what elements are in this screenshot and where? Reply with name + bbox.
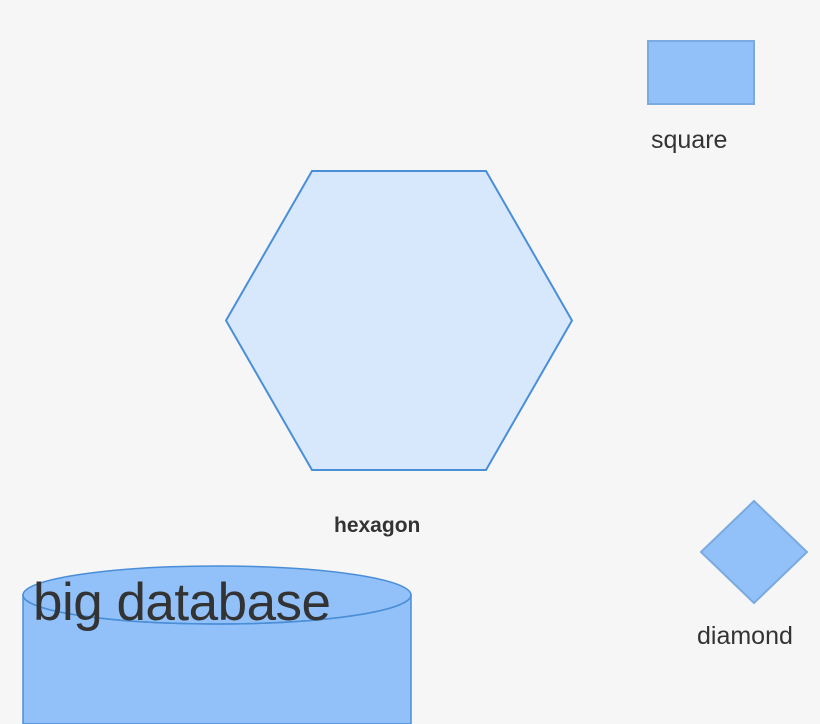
diamond-polygon-body[interactable] [701,501,807,603]
shape-label-hexagon: hexagon [334,515,420,536]
hexagon-polygon-body[interactable] [226,171,572,470]
square-rect-body[interactable] [648,41,754,104]
shape-label-square: square [651,128,727,153]
diagram-canvas: square hexagon diamond big database d [0,0,820,724]
shape-square[interactable] [647,40,755,105]
shape-label-database: big database [33,576,331,629]
shape-hexagon[interactable] [225,170,573,471]
shape-diamond[interactable] [700,500,808,604]
shape-label-diamond: diamond [697,624,793,649]
